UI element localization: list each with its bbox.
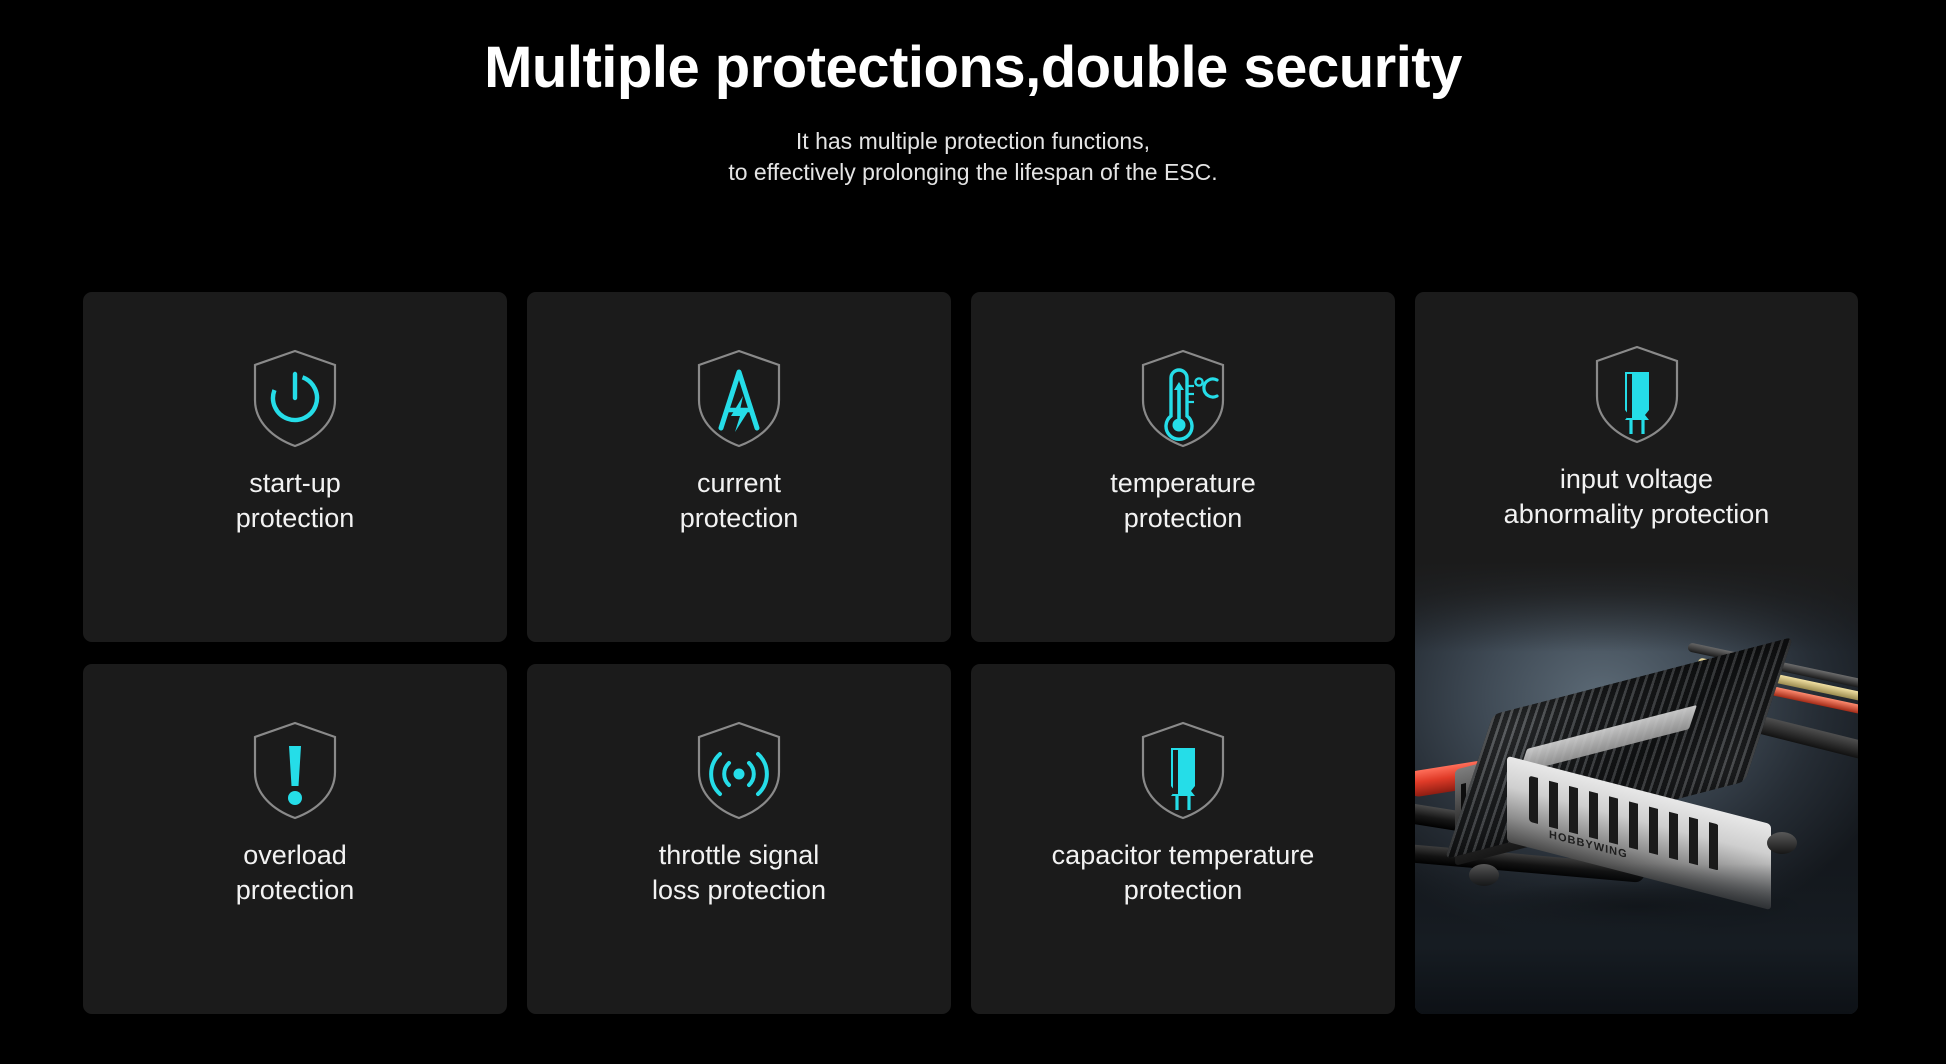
feature-label-line-2: protection	[1110, 501, 1256, 536]
photo-top-fade	[1415, 562, 1858, 652]
feature-card-label: throttle signal loss protection	[638, 838, 840, 907]
hobbywing-esc-photo: HOBBYWING	[1415, 562, 1858, 1014]
feature-label-line-1: start-up	[249, 468, 341, 498]
subtitle-line-2: to effectively prolonging the lifespan o…	[0, 157, 1946, 188]
feature-card-label: overload protection	[222, 838, 369, 907]
subtitle-line-1: It has multiple protection functions,	[0, 126, 1946, 157]
feature-label-line-2: protection	[680, 501, 799, 536]
feature-label-line-1: throttle signal	[659, 840, 820, 870]
feature-card-label: input voltage abnormality protection	[1490, 462, 1784, 531]
shield-signal-waves-icon	[691, 716, 787, 824]
shield-exclamation-icon	[247, 716, 343, 824]
feature-card-label: start-up protection	[222, 466, 369, 535]
feature-card-throttle-signal-loss-protection[interactable]: throttle signal loss protection	[527, 664, 951, 1014]
feature-card-input-voltage-abnormality-protection[interactable]: input voltage abnormality protection	[1415, 292, 1858, 1014]
shield-capacitor-icon	[1589, 340, 1685, 448]
protection-features-grid: start-up protection current protection	[83, 292, 1864, 1014]
shield-capacitor-filled-icon	[1135, 716, 1231, 824]
feature-card-current-protection[interactable]: current protection	[527, 292, 951, 642]
shield-thermometer-celsius-icon	[1135, 344, 1231, 452]
page-root: Multiple protections,double security It …	[0, 0, 1946, 1064]
shield-power-icon	[247, 344, 343, 452]
feature-label-line-1: input voltage	[1560, 464, 1713, 494]
page-title: Multiple protections,double security	[0, 38, 1946, 99]
feature-label-line-2: protection	[236, 873, 355, 908]
feature-label-line-2: loss protection	[652, 873, 826, 908]
page-subtitle: It has multiple protection functions, to…	[0, 126, 1946, 188]
feature-label-line-1: capacitor temperature	[1052, 840, 1315, 870]
page-header: Multiple protections,double security It …	[0, 0, 1946, 188]
feature-card-temperature-protection[interactable]: temperature protection	[971, 292, 1395, 642]
feature-label-line-1: overload	[243, 840, 347, 870]
feature-card-start-up-protection[interactable]: start-up protection	[83, 292, 507, 642]
feature-label-line-1: current	[697, 468, 781, 498]
feature-label-line-2: protection	[236, 501, 355, 536]
feature-label-line-2: abnormality protection	[1504, 497, 1770, 532]
feature-label-line-2: protection	[1052, 873, 1315, 908]
esc-mount-hole-right	[1767, 832, 1797, 854]
feature-card-label: capacitor temperature protection	[1038, 838, 1329, 907]
feature-label-line-1: temperature	[1110, 468, 1256, 498]
feature-card-capacitor-temperature-protection[interactable]: capacitor temperature protection	[971, 664, 1395, 1014]
feature-card-overload-protection[interactable]: overload protection	[83, 664, 507, 1014]
feature-card-label: temperature protection	[1096, 466, 1270, 535]
feature-card-label: current protection	[666, 466, 813, 535]
photo-floor-gradient	[1415, 864, 1858, 1014]
shield-ampere-bolt-icon	[691, 344, 787, 452]
